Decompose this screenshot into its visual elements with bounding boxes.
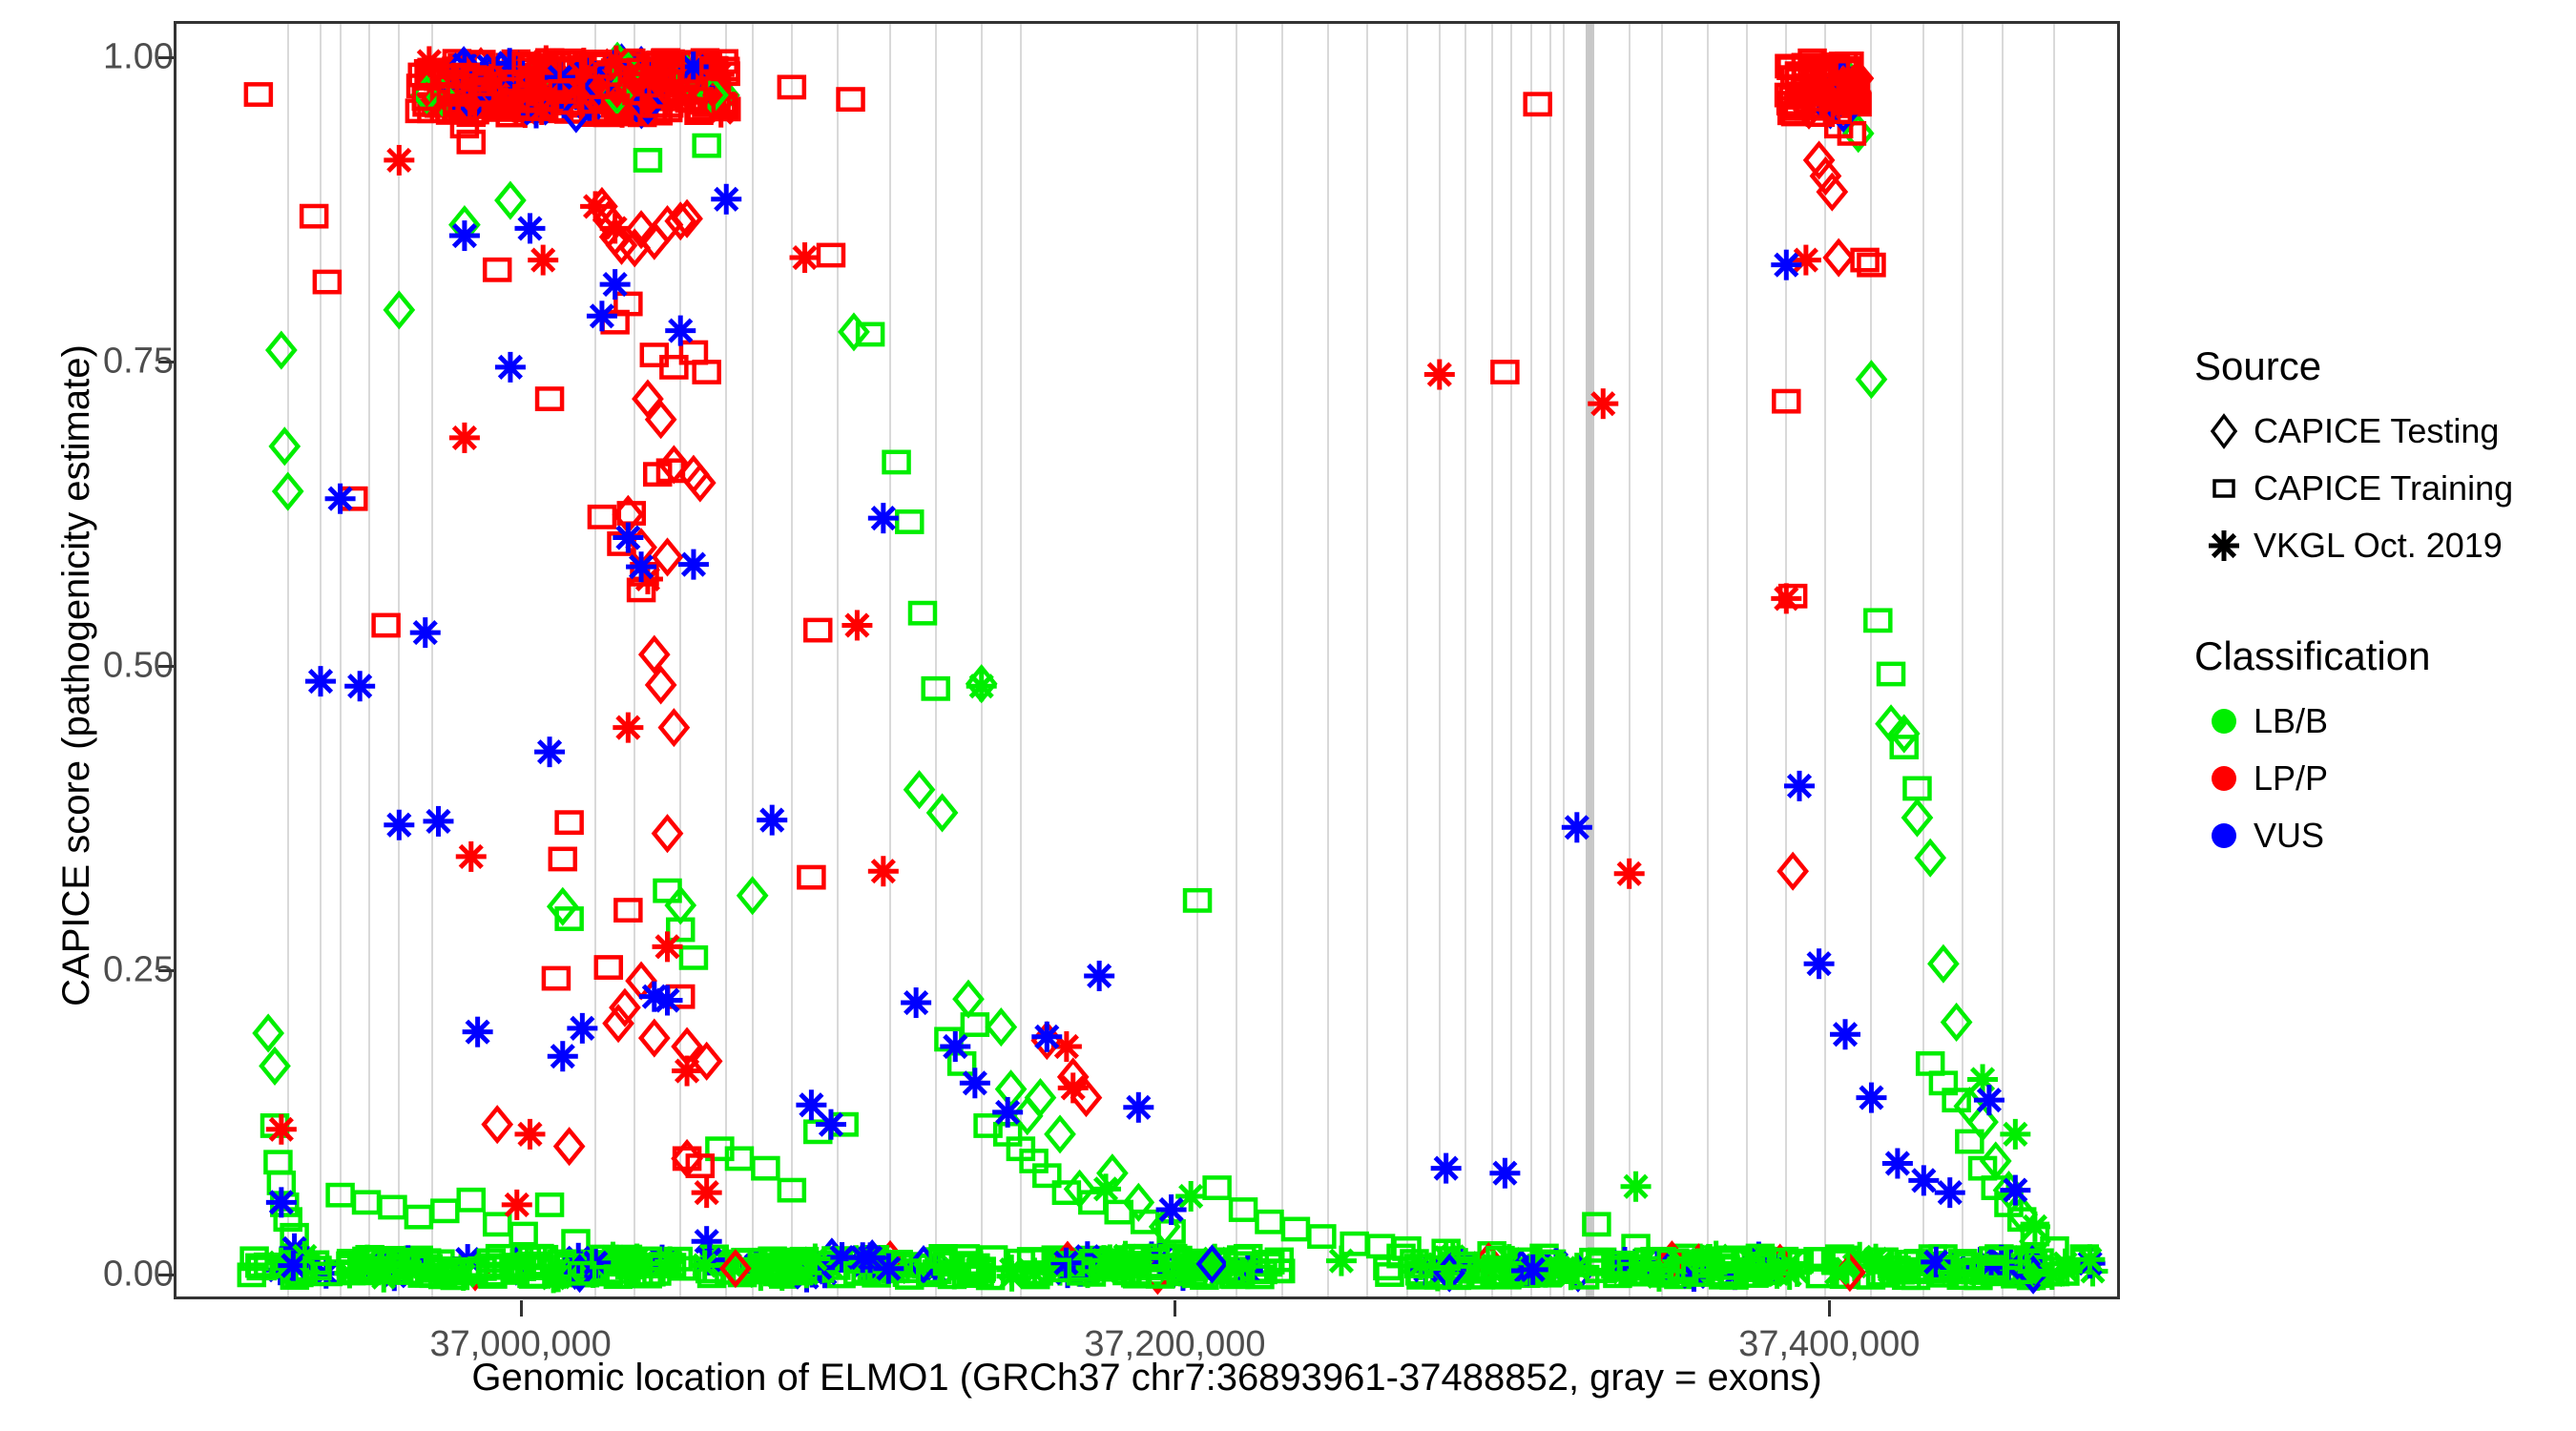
square-outline-icon xyxy=(2194,460,2254,517)
y-tick-label: 0.00 xyxy=(21,1255,174,1296)
legend-item-label: CAPICE Testing xyxy=(2254,411,2499,451)
x-tick-mark xyxy=(520,1300,523,1317)
circle-icon xyxy=(2194,807,2254,864)
chart-root: CAPICE score (pathogenicity estimate) Ge… xyxy=(0,0,2576,1431)
series-diamond-LB-B xyxy=(255,59,2048,1258)
circle-icon xyxy=(2194,693,2254,750)
series-square-LP-P xyxy=(246,52,1884,1176)
series-square-LB-B xyxy=(262,135,2067,1271)
legend-item-label: CAPICE Training xyxy=(2254,468,2513,508)
scatter-points xyxy=(177,24,2120,1299)
circle-icon xyxy=(2194,750,2254,807)
y-tick-label: 0.75 xyxy=(21,342,174,383)
x-tick-label: 37,000,000 xyxy=(430,1324,612,1365)
legend-item[interactable]: VKGL Oct. 2019 xyxy=(2194,517,2566,574)
scatter-layer xyxy=(177,24,2117,1296)
legend-item[interactable]: VUS xyxy=(2194,807,2566,864)
legend: SourceCAPICE TestingCAPICE TrainingVKGL … xyxy=(2194,343,2566,864)
y-tick-mark xyxy=(158,665,174,668)
y-tick-label: 0.25 xyxy=(21,950,174,991)
legend-item-label: VKGL Oct. 2019 xyxy=(2254,526,2503,566)
legend-item-label: VUS xyxy=(2254,816,2324,856)
series-asterisk-VUS xyxy=(266,184,2030,1264)
asterisk-icon xyxy=(2194,517,2254,574)
y-tick-mark xyxy=(158,969,174,972)
y-tick-label: 0.50 xyxy=(21,646,174,687)
legend-spacer xyxy=(2194,574,2566,633)
series-asterisk-LP-P xyxy=(266,145,1821,1220)
y-tick-mark xyxy=(158,361,174,363)
plot-panel xyxy=(174,21,2120,1299)
series-asterisk-LB-B xyxy=(966,671,2050,1280)
x-tick-mark xyxy=(1828,1300,1831,1317)
legend-item-label: LP/P xyxy=(2254,758,2328,798)
legend-group-title: Classification xyxy=(2194,633,2566,679)
series-dense-top xyxy=(407,45,1872,130)
series-dense-baseline xyxy=(239,1241,2109,1294)
y-tick-mark xyxy=(158,56,174,59)
legend-item[interactable]: LP/P xyxy=(2194,750,2566,807)
legend-item[interactable]: CAPICE Training xyxy=(2194,460,2566,517)
legend-group-title: Source xyxy=(2194,343,2566,389)
x-tick-label: 37,200,000 xyxy=(1084,1324,1265,1365)
diamond-outline-icon xyxy=(2194,403,2254,460)
x-tick-mark xyxy=(1174,1300,1176,1317)
legend-item[interactable]: CAPICE Testing xyxy=(2194,403,2566,460)
legend-item-label: LB/B xyxy=(2254,701,2328,741)
legend-item[interactable]: LB/B xyxy=(2194,693,2566,750)
y-tick-label: 1.00 xyxy=(21,37,174,78)
x-tick-label: 37,400,000 xyxy=(1738,1324,1920,1365)
y-tick-mark xyxy=(158,1274,174,1276)
